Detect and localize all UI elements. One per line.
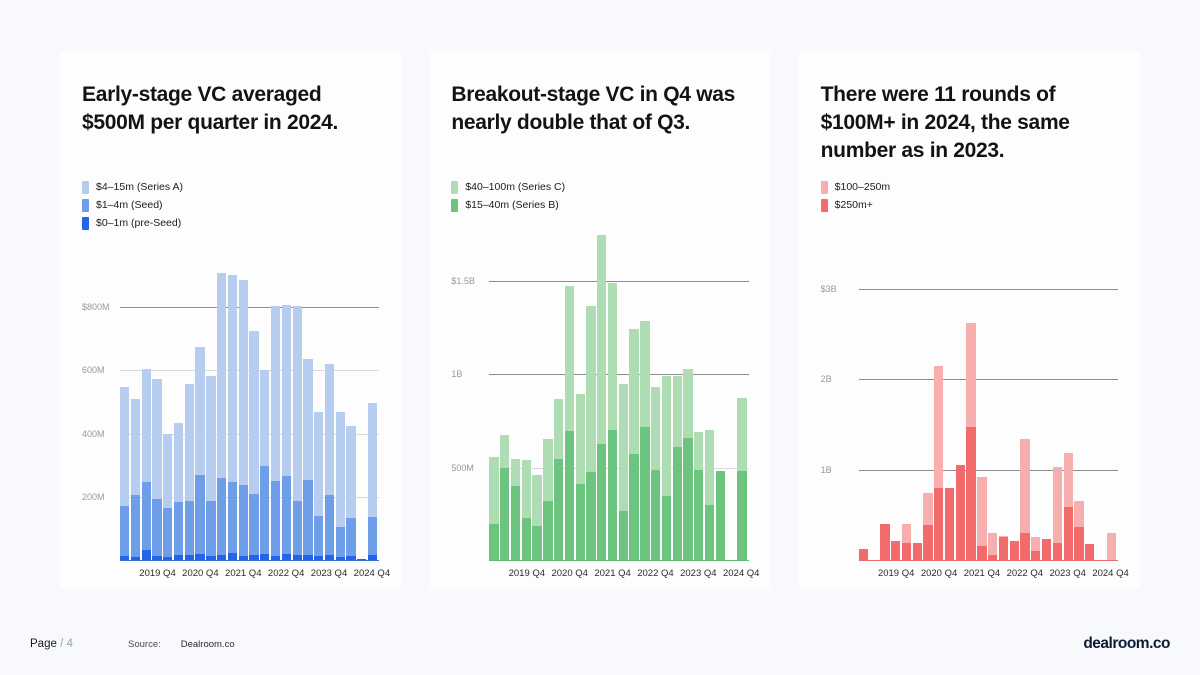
legend-item[interactable]: $250m+ bbox=[821, 197, 1118, 213]
legend-item[interactable]: $100–250m bbox=[821, 179, 1118, 195]
bar-segment bbox=[1042, 539, 1051, 561]
bar-column[interactable] bbox=[565, 225, 574, 561]
bar-segment bbox=[336, 412, 345, 527]
legend-swatch-icon bbox=[82, 217, 89, 230]
bar-segment bbox=[662, 376, 671, 495]
plot-canvas: 500M1B$1.5B bbox=[451, 225, 748, 561]
bar-column[interactable] bbox=[608, 225, 617, 561]
bar-column[interactable] bbox=[554, 225, 563, 561]
bar-segment bbox=[152, 499, 161, 556]
legend-item[interactable]: $0–1m (pre-Seed) bbox=[82, 215, 379, 231]
x-axis-tick-label: 2022 Q4 bbox=[1007, 568, 1043, 579]
bar-segment bbox=[705, 430, 714, 505]
bar-segment bbox=[640, 427, 649, 561]
bar-segment bbox=[619, 384, 628, 511]
bar-column[interactable] bbox=[597, 225, 606, 561]
x-axis-tick-label: 2021 Q4 bbox=[225, 568, 261, 579]
bar-segment bbox=[737, 471, 746, 561]
bar-segment bbox=[271, 481, 280, 555]
bar-column[interactable] bbox=[913, 225, 922, 561]
y-axis-tick-label: 500M bbox=[451, 463, 474, 473]
bar-segment bbox=[522, 518, 531, 561]
x-axis-tick-label: 2022 Q4 bbox=[637, 568, 673, 579]
bar-segment bbox=[249, 494, 258, 555]
chart-legend: $4–15m (Series A)$1–4m (Seed)$0–1m (pre-… bbox=[82, 179, 379, 233]
plot-canvas: 1B2B$3B bbox=[821, 225, 1118, 561]
plot-canvas: 200M400M600M$800M bbox=[82, 243, 379, 561]
bar-column[interactable] bbox=[346, 243, 355, 561]
legend-item-label: $0–1m (pre-Seed) bbox=[96, 217, 181, 229]
bar-segment bbox=[282, 305, 291, 477]
bar-column[interactable] bbox=[945, 225, 954, 561]
bar-column[interactable] bbox=[727, 225, 736, 561]
bar-segment bbox=[131, 495, 140, 557]
legend-item-label: $15–40m (Series B) bbox=[465, 199, 558, 211]
bar-segment bbox=[206, 376, 215, 501]
chart-title: Early-stage VC averaged $500M per quarte… bbox=[82, 81, 379, 165]
x-axis-tick-label: 2020 Q4 bbox=[551, 568, 587, 579]
y-axis-tick-label: $1.5B bbox=[451, 276, 475, 286]
bar-segment bbox=[576, 394, 585, 484]
bar-column[interactable] bbox=[640, 225, 649, 561]
bar-segment bbox=[880, 524, 889, 561]
bar-segment bbox=[217, 273, 226, 478]
bar-group bbox=[120, 243, 377, 561]
chart-title: There were 11 rounds of $100M+ in 2024, … bbox=[821, 81, 1118, 165]
bar-segment bbox=[923, 525, 932, 561]
bar-column[interactable] bbox=[489, 225, 498, 561]
bar-segment bbox=[532, 526, 541, 561]
bar-column[interactable] bbox=[174, 243, 183, 561]
bar-segment bbox=[1031, 537, 1040, 552]
bar-segment bbox=[651, 387, 660, 470]
bar-group bbox=[859, 225, 1116, 561]
x-axis-tick-label: 2019 Q4 bbox=[139, 568, 175, 579]
bar-segment bbox=[314, 516, 323, 556]
bar-segment bbox=[716, 471, 725, 561]
x-axis-tick-label: 2024 Q4 bbox=[354, 568, 390, 579]
bar-segment bbox=[640, 321, 649, 426]
y-axis-tick-label: $800M bbox=[82, 302, 110, 312]
bar-column[interactable] bbox=[522, 225, 531, 561]
bar-column[interactable] bbox=[988, 225, 997, 561]
legend-item[interactable]: $4–15m (Series A) bbox=[82, 179, 379, 195]
bar-column[interactable] bbox=[737, 225, 746, 561]
bar-segment bbox=[1010, 541, 1019, 561]
bar-segment bbox=[185, 501, 194, 555]
chart-legend: $40–100m (Series C)$15–40m (Series B) bbox=[451, 179, 748, 215]
dealroom-logo: dealroom.co bbox=[1083, 635, 1170, 653]
bar-segment bbox=[228, 275, 237, 482]
legend-swatch-icon bbox=[821, 181, 828, 194]
bar-segment bbox=[217, 478, 226, 555]
bar-segment bbox=[1085, 544, 1094, 561]
bar-segment bbox=[303, 480, 312, 555]
charts-row: Early-stage VC averaged $500M per quarte… bbox=[60, 51, 1140, 589]
bar-segment bbox=[511, 459, 520, 486]
bar-segment bbox=[597, 444, 606, 561]
bar-column[interactable] bbox=[282, 243, 291, 561]
legend-swatch-icon bbox=[451, 181, 458, 194]
source-attribution: Source: Dealroom.co bbox=[128, 639, 235, 650]
x-axis-tick-label: 2024 Q4 bbox=[723, 568, 759, 579]
bar-segment bbox=[1020, 533, 1029, 561]
bar-column[interactable] bbox=[120, 243, 129, 561]
bar-segment bbox=[966, 427, 975, 561]
bar-segment bbox=[152, 379, 161, 499]
x-axis: 2019 Q42020 Q42021 Q42022 Q42023 Q42024 … bbox=[120, 563, 377, 589]
x-axis-tick-label: 2023 Q4 bbox=[680, 568, 716, 579]
x-axis-tick-label: 2020 Q4 bbox=[182, 568, 218, 579]
bar-segment bbox=[120, 506, 129, 556]
bar-segment bbox=[206, 501, 215, 556]
bar-column[interactable] bbox=[1042, 225, 1051, 561]
bar-segment bbox=[1064, 507, 1073, 561]
bar-column[interactable] bbox=[1020, 225, 1029, 561]
bar-segment bbox=[249, 331, 258, 493]
y-axis-tick-label: 400M bbox=[82, 429, 105, 439]
chart-card-early-stage: Early-stage VC averaged $500M per quarte… bbox=[60, 51, 401, 589]
bar-segment bbox=[163, 508, 172, 557]
page-separator: / bbox=[60, 638, 63, 650]
page-indicator: Page / 4 bbox=[30, 638, 73, 650]
bar-column[interactable] bbox=[891, 225, 900, 561]
page-label: Page bbox=[30, 638, 57, 650]
x-axis-tick-label: 2024 Q4 bbox=[1092, 568, 1128, 579]
bar-segment bbox=[271, 306, 280, 482]
bar-segment bbox=[314, 412, 323, 516]
bar-segment bbox=[1107, 533, 1116, 561]
bar-column[interactable] bbox=[131, 243, 140, 561]
bar-segment bbox=[239, 280, 248, 486]
bar-segment bbox=[325, 364, 334, 495]
bar-segment bbox=[737, 398, 746, 472]
bar-column[interactable] bbox=[511, 225, 520, 561]
bar-segment bbox=[673, 376, 682, 447]
bar-column[interactable] bbox=[239, 243, 248, 561]
legend-item-label: $250m+ bbox=[835, 199, 873, 211]
bar-segment bbox=[673, 447, 682, 561]
y-axis-tick-label: 600M bbox=[82, 365, 105, 375]
bar-column[interactable] bbox=[705, 225, 714, 561]
chart-title: Breakout-stage VC in Q4 was nearly doubl… bbox=[451, 81, 748, 165]
bar-column[interactable] bbox=[716, 225, 725, 561]
bar-column[interactable] bbox=[163, 243, 172, 561]
bar-segment bbox=[511, 486, 520, 561]
bar-segment bbox=[293, 306, 302, 501]
bar-segment bbox=[619, 511, 628, 561]
x-axis-line bbox=[120, 560, 379, 562]
bar-column[interactable] bbox=[999, 225, 1008, 561]
bar-segment bbox=[934, 366, 943, 488]
bar-segment bbox=[163, 434, 172, 507]
bar-segment bbox=[597, 235, 606, 444]
bar-segment bbox=[131, 399, 140, 494]
bar-segment bbox=[902, 543, 911, 561]
bar-column[interactable] bbox=[357, 243, 366, 561]
bar-column[interactable] bbox=[683, 225, 692, 561]
y-axis-tick-label: 200M bbox=[82, 492, 105, 502]
bar-column[interactable] bbox=[662, 225, 671, 561]
bar-column[interactable] bbox=[966, 225, 975, 561]
bar-column[interactable] bbox=[619, 225, 628, 561]
bar-segment bbox=[368, 517, 377, 555]
bar-segment bbox=[120, 387, 129, 505]
bar-column[interactable] bbox=[1064, 225, 1073, 561]
bar-segment bbox=[1074, 527, 1083, 561]
bar-segment bbox=[543, 501, 552, 561]
x-axis-tick-label: 2021 Q4 bbox=[594, 568, 630, 579]
bar-segment bbox=[913, 543, 922, 561]
bar-column[interactable] bbox=[500, 225, 509, 561]
bar-column[interactable] bbox=[576, 225, 585, 561]
x-axis-tick-label: 2019 Q4 bbox=[509, 568, 545, 579]
bar-column[interactable] bbox=[1107, 225, 1116, 561]
bar-column[interactable] bbox=[651, 225, 660, 561]
legend-swatch-icon bbox=[82, 199, 89, 212]
chart-plot-area: 200M400M600M$800M2019 Q42020 Q42021 Q420… bbox=[82, 243, 379, 589]
bar-segment bbox=[346, 426, 355, 518]
bar-segment bbox=[303, 359, 312, 479]
bar-segment bbox=[522, 460, 531, 518]
x-axis: 2019 Q42020 Q42021 Q42022 Q42023 Q42024 … bbox=[489, 563, 746, 589]
bar-segment bbox=[282, 476, 291, 553]
source-label: Source: bbox=[128, 639, 161, 650]
x-axis-tick-label: 2023 Q4 bbox=[1049, 568, 1085, 579]
bar-segment bbox=[934, 488, 943, 561]
bar-segment bbox=[1064, 453, 1073, 506]
chart-card-megarounds: There were 11 rounds of $100M+ in 2024, … bbox=[799, 51, 1140, 589]
bar-column[interactable] bbox=[152, 243, 161, 561]
bar-segment bbox=[293, 501, 302, 554]
bar-column[interactable] bbox=[336, 243, 345, 561]
legend-swatch-icon bbox=[82, 181, 89, 194]
bar-segment bbox=[1020, 439, 1029, 533]
legend-swatch-icon bbox=[451, 199, 458, 212]
bar-column[interactable] bbox=[271, 243, 280, 561]
legend-item-label: $1–4m (Seed) bbox=[96, 199, 163, 211]
bar-segment bbox=[694, 432, 703, 469]
bar-segment bbox=[185, 384, 194, 501]
bar-column[interactable] bbox=[217, 243, 226, 561]
bar-segment bbox=[325, 495, 334, 555]
bar-column[interactable] bbox=[195, 243, 204, 561]
bar-segment bbox=[346, 518, 355, 556]
bar-column[interactable] bbox=[902, 225, 911, 561]
bar-segment bbox=[608, 283, 617, 430]
bar-segment bbox=[586, 306, 595, 472]
legend-item-label: $40–100m (Series C) bbox=[465, 181, 565, 193]
legend-item-label: $4–15m (Series A) bbox=[96, 181, 183, 193]
bar-segment bbox=[966, 323, 975, 427]
source-value: Dealroom.co bbox=[181, 639, 235, 650]
bar-column[interactable] bbox=[1085, 225, 1094, 561]
bar-segment bbox=[651, 470, 660, 561]
bar-column[interactable] bbox=[1031, 225, 1040, 561]
chart-plot-area: 1B2B$3B2019 Q42020 Q42021 Q42022 Q42023 … bbox=[821, 225, 1118, 589]
bar-column[interactable] bbox=[185, 243, 194, 561]
bar-column[interactable] bbox=[303, 243, 312, 561]
bar-segment bbox=[174, 502, 183, 555]
bar-segment bbox=[705, 505, 714, 561]
bar-segment bbox=[532, 475, 541, 525]
y-axis-tick-label: 1B bbox=[821, 465, 832, 475]
bar-column[interactable] bbox=[869, 225, 878, 561]
bar-column[interactable] bbox=[859, 225, 868, 561]
bar-segment bbox=[1053, 543, 1062, 561]
bar-column[interactable] bbox=[586, 225, 595, 561]
legend-item[interactable]: $40–100m (Series C) bbox=[451, 179, 748, 195]
bar-segment bbox=[500, 468, 509, 561]
bar-segment bbox=[891, 541, 900, 561]
bar-column[interactable] bbox=[956, 225, 965, 561]
bar-segment bbox=[608, 430, 617, 561]
bar-segment bbox=[336, 527, 345, 556]
bar-column[interactable] bbox=[1074, 225, 1083, 561]
bar-column[interactable] bbox=[532, 225, 541, 561]
bar-segment bbox=[945, 488, 954, 561]
bar-column[interactable] bbox=[228, 243, 237, 561]
bar-segment bbox=[629, 454, 638, 561]
x-axis-tick-label: 2019 Q4 bbox=[878, 568, 914, 579]
bar-segment bbox=[260, 466, 269, 554]
bar-segment bbox=[662, 496, 671, 561]
bar-column[interactable] bbox=[206, 243, 215, 561]
bar-group bbox=[489, 225, 746, 561]
bar-column[interactable] bbox=[249, 243, 258, 561]
bar-column[interactable] bbox=[325, 243, 334, 561]
y-axis-tick-label: $3B bbox=[821, 284, 837, 294]
bar-segment bbox=[142, 369, 151, 482]
chart-plot-area: 500M1B$1.5B2019 Q42020 Q42021 Q42022 Q42… bbox=[451, 225, 748, 589]
bar-segment bbox=[543, 439, 552, 502]
bar-column[interactable] bbox=[923, 225, 932, 561]
y-axis-tick-label: 2B bbox=[821, 374, 832, 384]
bar-column[interactable] bbox=[543, 225, 552, 561]
bar-column[interactable] bbox=[1053, 225, 1062, 561]
chart-legend: $100–250m$250m+ bbox=[821, 179, 1118, 215]
bar-segment bbox=[368, 403, 377, 517]
bar-segment bbox=[988, 533, 997, 555]
bar-column[interactable] bbox=[694, 225, 703, 561]
x-axis: 2019 Q42020 Q42021 Q42022 Q42023 Q42024 … bbox=[859, 563, 1116, 589]
bar-segment bbox=[228, 482, 237, 553]
bar-segment bbox=[923, 493, 932, 524]
bar-segment bbox=[902, 524, 911, 543]
bar-segment bbox=[977, 477, 986, 546]
bar-segment bbox=[586, 472, 595, 561]
slide-footer: Page / 4 Source: Dealroom.co dealroom.co bbox=[0, 613, 1200, 675]
bar-column[interactable] bbox=[1010, 225, 1019, 561]
x-axis-line bbox=[489, 560, 748, 562]
bar-column[interactable] bbox=[629, 225, 638, 561]
bar-column[interactable] bbox=[368, 243, 377, 561]
bar-column[interactable] bbox=[880, 225, 889, 561]
bar-segment bbox=[239, 485, 248, 556]
bar-segment bbox=[142, 482, 151, 549]
bar-segment bbox=[956, 465, 965, 561]
legend-item[interactable]: $1–4m (Seed) bbox=[82, 197, 379, 213]
bar-segment bbox=[554, 459, 563, 561]
legend-item[interactable]: $15–40m (Series B) bbox=[451, 197, 748, 213]
bar-segment bbox=[576, 484, 585, 561]
bar-segment bbox=[694, 470, 703, 561]
x-axis-tick-label: 2022 Q4 bbox=[268, 568, 304, 579]
bar-segment bbox=[565, 431, 574, 561]
bar-segment bbox=[629, 329, 638, 454]
bar-segment bbox=[999, 537, 1008, 561]
bar-segment bbox=[174, 423, 183, 502]
y-axis-tick-label: 1B bbox=[451, 369, 462, 379]
bar-segment bbox=[1074, 501, 1083, 527]
x-axis-tick-label: 2021 Q4 bbox=[964, 568, 1000, 579]
bar-segment bbox=[195, 347, 204, 474]
slide-page: Early-stage VC averaged $500M per quarte… bbox=[0, 0, 1200, 675]
bar-column[interactable] bbox=[934, 225, 943, 561]
bar-segment bbox=[683, 369, 692, 438]
legend-item-label: $100–250m bbox=[835, 181, 890, 193]
x-axis-tick-label: 2023 Q4 bbox=[311, 568, 347, 579]
bar-segment bbox=[1053, 467, 1062, 543]
bar-segment bbox=[489, 524, 498, 561]
bar-column[interactable] bbox=[314, 243, 323, 561]
bar-segment bbox=[260, 370, 269, 466]
bar-segment bbox=[195, 475, 204, 555]
bar-column[interactable] bbox=[293, 243, 302, 561]
x-axis-tick-label: 2020 Q4 bbox=[921, 568, 957, 579]
bar-column[interactable] bbox=[1096, 225, 1105, 561]
bar-segment bbox=[554, 399, 563, 460]
chart-card-breakout-stage: Breakout-stage VC in Q4 was nearly doubl… bbox=[429, 51, 770, 589]
bar-segment bbox=[683, 438, 692, 561]
page-total: 4 bbox=[66, 638, 72, 650]
bar-segment bbox=[489, 457, 498, 523]
x-axis-line bbox=[859, 560, 1118, 562]
bar-segment bbox=[565, 286, 574, 432]
legend-swatch-icon bbox=[821, 199, 828, 212]
bar-column[interactable] bbox=[673, 225, 682, 561]
bar-column[interactable] bbox=[260, 243, 269, 561]
bar-column[interactable] bbox=[977, 225, 986, 561]
bar-column[interactable] bbox=[142, 243, 151, 561]
bar-segment bbox=[500, 435, 509, 468]
